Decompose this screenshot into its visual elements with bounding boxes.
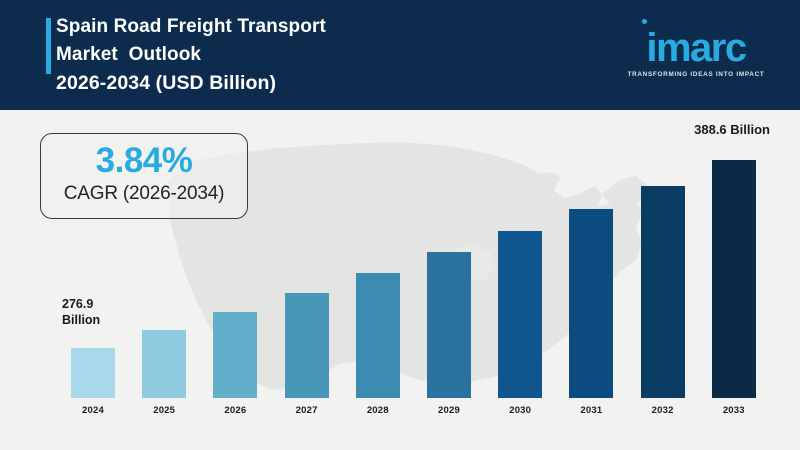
bar-2027 [285, 293, 329, 398]
title-line-2: Market Outlook [56, 41, 616, 69]
bar-column: 2029 [427, 252, 471, 398]
infographic-root: Spain Road Freight Transport Market Outl… [0, 0, 800, 450]
bar-2029 [427, 252, 471, 398]
x-axis-label-2033: 2033 [704, 405, 764, 416]
bar-column: 2031 [569, 209, 613, 398]
bar-2025 [142, 330, 186, 398]
x-axis-label-2032: 2032 [633, 405, 693, 416]
logo-text: imarc [646, 26, 745, 70]
x-axis-label-2025: 2025 [134, 405, 194, 416]
bar-column: 2025 [142, 330, 186, 398]
bar-chart-plot: 2024202520262027202820292030203120322033 [0, 110, 800, 450]
x-axis-label-2027: 2027 [277, 405, 337, 416]
x-axis-label-2028: 2028 [348, 405, 408, 416]
bar-column: 2030 [498, 231, 542, 398]
bar-column: 2032 [641, 186, 685, 398]
x-axis-label-2029: 2029 [419, 405, 479, 416]
imarc-logo: imarc TRANSFORMING IDEAS INTO IMPACT [626, 28, 766, 78]
title-line-1: Spain Road Freight Transport [56, 13, 616, 41]
x-axis-label-2031: 2031 [561, 405, 621, 416]
logo-dot-icon [642, 19, 647, 24]
logo-tagline: TRANSFORMING IDEAS INTO IMPACT [626, 71, 766, 78]
bar-column: 2024 [71, 348, 115, 398]
bar-column: 2026 [213, 312, 257, 398]
bar-2033 [712, 160, 756, 398]
title-line-3: 2026-2034 (USD Billion) [56, 69, 616, 97]
bar-2024 [71, 348, 115, 398]
bar-2030 [498, 231, 542, 398]
bar-2031 [569, 209, 613, 398]
bar-2026 [213, 312, 257, 398]
page-title: Spain Road Freight Transport Market Outl… [56, 13, 616, 97]
bar-column: 2027 [285, 293, 329, 398]
x-axis-label-2024: 2024 [63, 405, 123, 416]
bar-column: 2033 [712, 160, 756, 398]
logo-wordmark: imarc [626, 28, 766, 68]
bar-2032 [641, 186, 685, 398]
bar-2028 [356, 273, 400, 398]
bar-column: 2028 [356, 273, 400, 398]
header-band: Spain Road Freight Transport Market Outl… [0, 0, 800, 110]
x-axis-label-2030: 2030 [490, 405, 550, 416]
title-accent-bar [46, 18, 51, 74]
x-axis-label-2026: 2026 [205, 405, 265, 416]
